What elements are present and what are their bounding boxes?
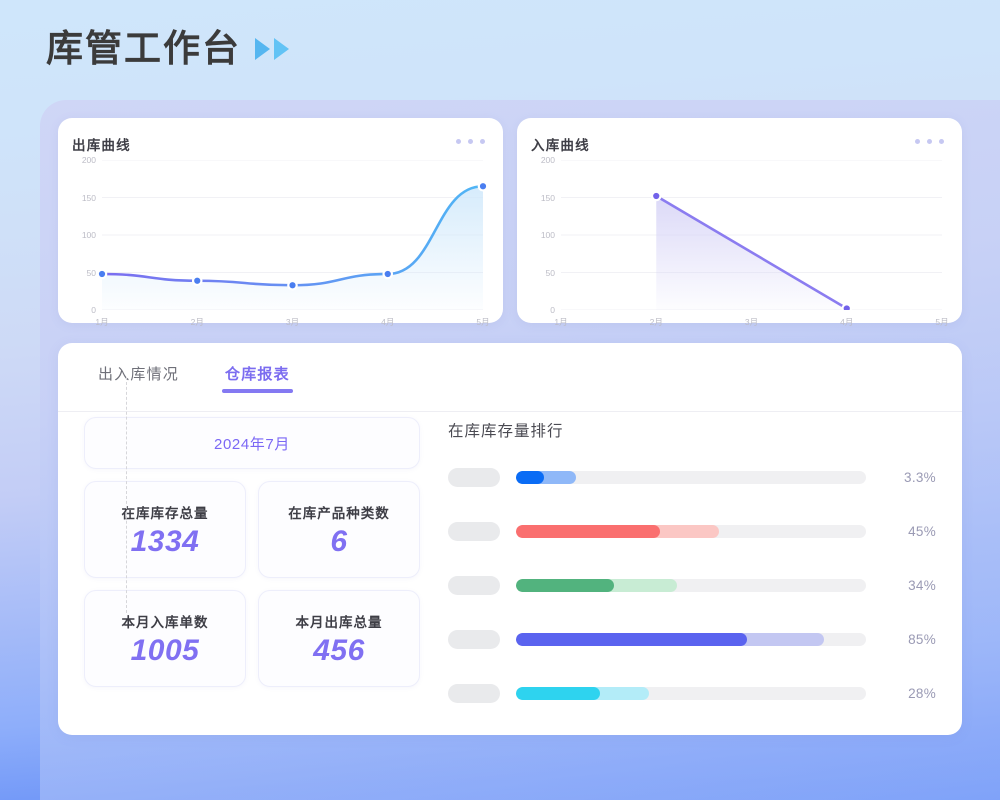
- x-axis-tick: 1月: [554, 310, 567, 328]
- ranking-bar-track: [516, 579, 866, 592]
- month-value: 2024年7月: [214, 433, 290, 454]
- inbound-chart-card: 入库曲线 0501001502001月2月3月4月5月: [517, 118, 962, 323]
- ranking-rows: 3.3%45%34%85%28%: [448, 459, 936, 711]
- tab-warehouse-report[interactable]: 仓库报表: [225, 363, 290, 393]
- stat-label: 本月出库总量: [296, 611, 383, 631]
- outbound-chart-card: 出库曲线 0501001502001月2月3月4月5月: [58, 118, 503, 323]
- ranking-item-label: [448, 522, 500, 541]
- ranking-bar-track: [516, 525, 866, 538]
- ranking-row[interactable]: 28%: [448, 675, 936, 711]
- ranking-item-label: [448, 684, 500, 703]
- stat-card-inbound-orders[interactable]: 本月入库单数 1005: [84, 590, 246, 687]
- outbound-chart-header: 出库曲线: [72, 134, 489, 154]
- stat-card-product-types[interactable]: 在库产品种类数 6: [258, 481, 420, 578]
- y-axis-tick: 200: [541, 155, 561, 165]
- ranking-percent-label: 85%: [880, 632, 936, 647]
- double-arrow-icon-group: [255, 38, 289, 60]
- stat-card-total-stock[interactable]: 在库库存总量 1334: [84, 481, 246, 578]
- stats-column: 2024年7月 在库库存总量 1334 在库产品种类数 6 本月入库单数 100…: [84, 417, 420, 729]
- stat-label: 在库产品种类数: [288, 502, 390, 522]
- x-axis-tick: 5月: [935, 310, 948, 328]
- x-axis-tick: 2月: [191, 310, 204, 328]
- three-dots-icon[interactable]: [915, 134, 948, 144]
- stat-value: 1005: [131, 635, 200, 667]
- y-axis-tick: 50: [546, 268, 561, 278]
- y-axis-tick: 200: [82, 155, 102, 165]
- ranking-percent-label: 28%: [880, 686, 936, 701]
- y-axis-tick: 50: [87, 268, 102, 278]
- charts-row: 出库曲线 0501001502001月2月3月4月5月 入库曲线 0501001…: [58, 118, 982, 323]
- tab-bar: 出入库情况 仓库报表: [84, 363, 936, 393]
- ranking-percent-label: 45%: [880, 524, 936, 539]
- ranking-bar-primary: [516, 633, 747, 646]
- stat-value: 1334: [131, 526, 200, 558]
- ranking-row[interactable]: 45%: [448, 513, 936, 549]
- ranking-item-label: [448, 468, 500, 487]
- stat-value: 6: [330, 526, 347, 558]
- y-axis-tick: 100: [82, 230, 102, 240]
- ranking-row[interactable]: 3.3%: [448, 459, 936, 495]
- inbound-chart-plot: 0501001502001月2月3月4月5月: [531, 160, 948, 310]
- stat-label: 在库库存总量: [122, 502, 209, 522]
- x-axis-tick: 4月: [381, 310, 394, 328]
- play-triangle-icon: [274, 38, 289, 60]
- ranking-bar-track: [516, 471, 866, 484]
- ranking-percent-label: 34%: [880, 578, 936, 593]
- report-panel: 出入库情况 仓库报表 2024年7月 在库库存总量 1334 在库产品种类数 6: [58, 343, 962, 735]
- ranking-item-label: [448, 576, 500, 595]
- x-axis-tick: 3月: [286, 310, 299, 328]
- stat-grid: 在库库存总量 1334 在库产品种类数 6 本月入库单数 1005 本月出库总量…: [84, 481, 420, 687]
- ranking-bar-primary: [516, 471, 544, 484]
- x-axis-tick: 1月: [95, 310, 108, 328]
- y-axis-tick: 100: [541, 230, 561, 240]
- page-title: 库管工作台: [46, 30, 241, 67]
- ranking-title: 在库库存量排行: [448, 419, 936, 441]
- x-axis-tick: 2月: [650, 310, 663, 328]
- play-triangle-icon: [255, 38, 270, 60]
- ranking-row[interactable]: 34%: [448, 567, 936, 603]
- dashboard-panel: 出库曲线 0501001502001月2月3月4月5月 入库曲线 0501001…: [40, 100, 1000, 800]
- ranking-bar-track: [516, 633, 866, 646]
- tab-inout-status[interactable]: 出入库情况: [98, 363, 179, 393]
- outbound-chart-plot: 0501001502001月2月3月4月5月: [72, 160, 489, 310]
- stat-card-outbound-total[interactable]: 本月出库总量 456: [258, 590, 420, 687]
- report-content: 2024年7月 在库库存总量 1334 在库产品种类数 6 本月入库单数 100…: [84, 417, 936, 729]
- stat-label: 本月入库单数: [122, 611, 209, 631]
- ranking-percent-label: 3.3%: [880, 470, 936, 485]
- x-axis-tick: 5月: [476, 310, 489, 328]
- inbound-chart-title: 入库曲线: [531, 134, 590, 154]
- outbound-chart-title: 出库曲线: [72, 134, 131, 154]
- y-axis-tick: 150: [541, 193, 561, 203]
- three-dots-icon[interactable]: [456, 134, 489, 144]
- stat-value: 456: [313, 635, 365, 667]
- ranking-bar-primary: [516, 687, 600, 700]
- y-axis-tick: 150: [82, 193, 102, 203]
- inbound-chart-header: 入库曲线: [531, 134, 948, 154]
- ranking-item-label: [448, 630, 500, 649]
- tab-divider: [58, 411, 962, 412]
- x-axis-tick: 4月: [840, 310, 853, 328]
- ranking-bar-track: [516, 687, 866, 700]
- ranking-guideline: [126, 377, 127, 613]
- ranking-bar-primary: [516, 525, 660, 538]
- page-header: 库管工作台: [46, 30, 289, 67]
- x-axis-tick: 3月: [745, 310, 758, 328]
- month-selector[interactable]: 2024年7月: [84, 417, 420, 469]
- ranking-bar-primary: [516, 579, 614, 592]
- ranking-column: 在库库存量排行 3.3%45%34%85%28%: [448, 417, 936, 729]
- ranking-row[interactable]: 85%: [448, 621, 936, 657]
